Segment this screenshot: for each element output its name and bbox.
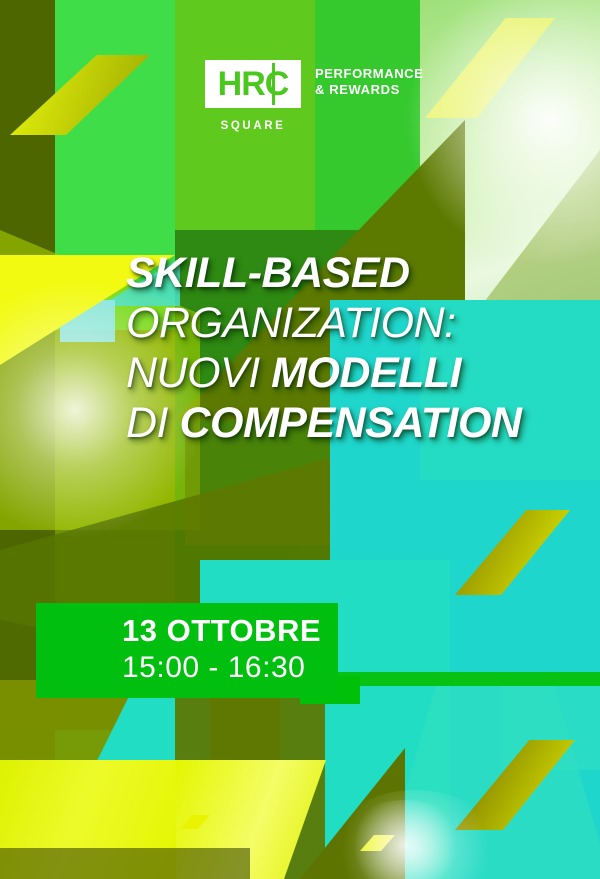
- title-line-2: ORGANIZATION:: [126, 298, 586, 348]
- event-date: 13 OTTOBRE: [122, 612, 321, 650]
- brand-tagline-line-1: PERFORMANCE: [315, 66, 423, 82]
- event-time: 15:00 - 16:30: [122, 650, 321, 686]
- title-line-1: SKILL-BASED: [126, 248, 586, 298]
- poster-title: SKILL-BASED ORGANIZATION: NUOVI MODELLI …: [126, 248, 586, 448]
- title-line-4: DI COMPENSATION: [126, 398, 586, 448]
- title-line-4-light: DI: [126, 399, 179, 447]
- title-line-3-light: NUOVI: [126, 349, 271, 397]
- hrc-logo-text: HRC: [218, 67, 289, 101]
- hrc-logo-mark: HRC: [205, 60, 301, 108]
- hrc-logo-subtext: SQUARE: [205, 120, 301, 132]
- title-line-4-bold: COMPENSATION: [179, 399, 521, 447]
- title-line-3: NUOVI MODELLI: [126, 348, 586, 398]
- brand-tagline-line-2: & REWARDS: [315, 82, 423, 98]
- logo-divider-line: [272, 63, 275, 105]
- event-poster: HRC PERFORMANCE & REWARDS SQUARE SKILL-B…: [0, 0, 600, 879]
- schedule-text: 13 OTTOBRE 15:00 - 16:30: [122, 612, 321, 686]
- brand-lockup: HRC PERFORMANCE & REWARDS: [205, 60, 423, 108]
- brand-tagline: PERFORMANCE & REWARDS: [315, 60, 423, 99]
- title-line-3-bold: MODELLI: [271, 349, 461, 397]
